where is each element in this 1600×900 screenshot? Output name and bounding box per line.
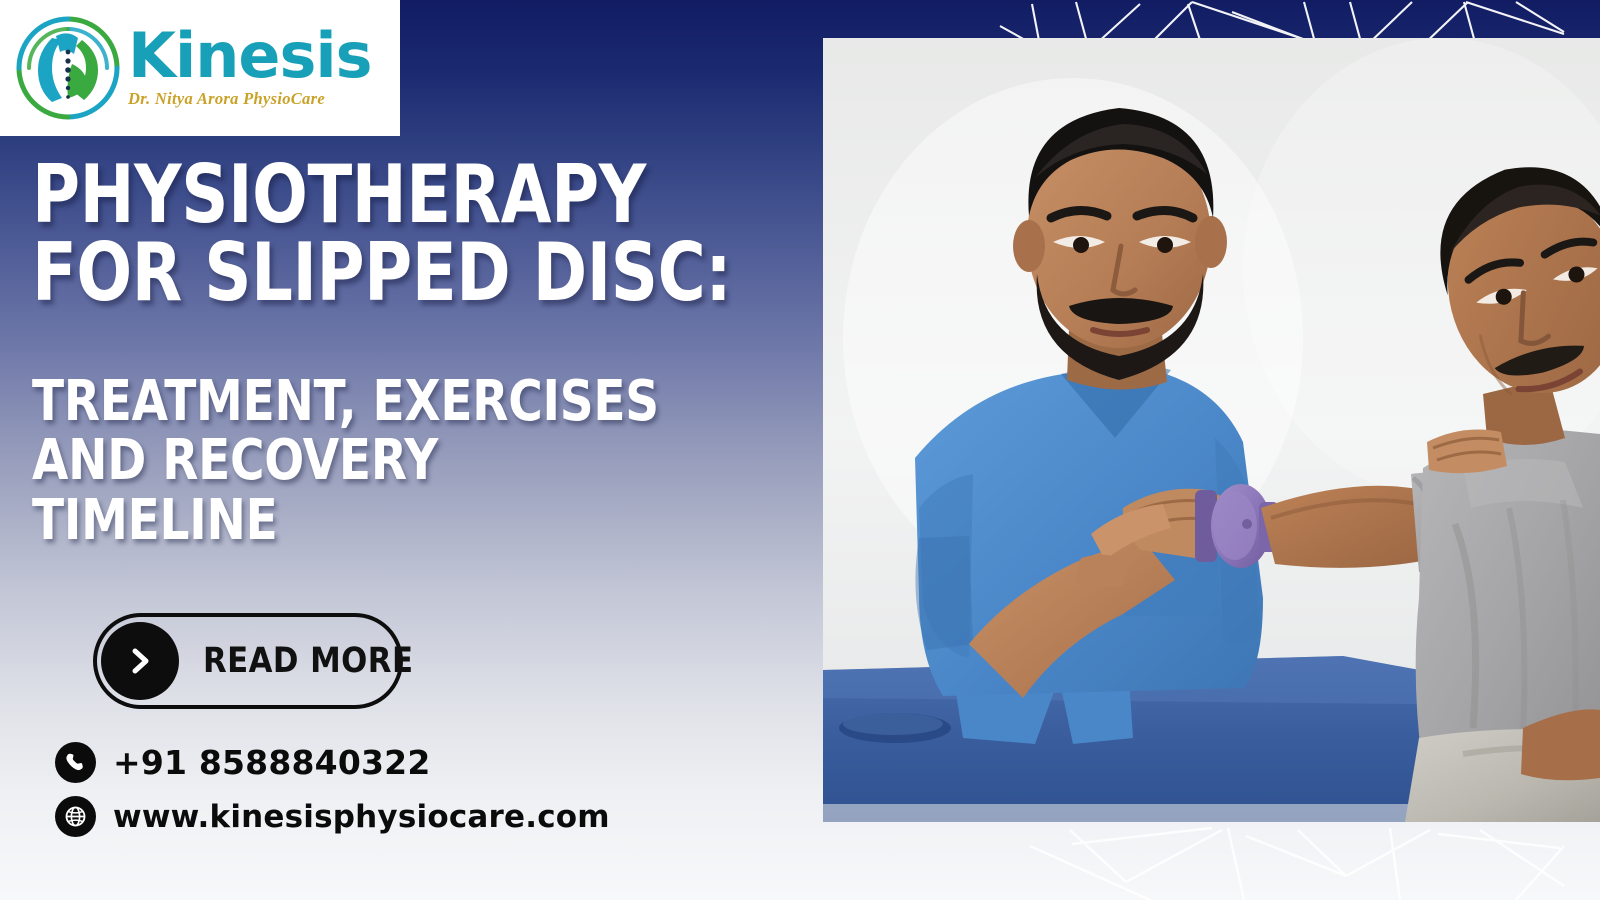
read-more-button[interactable]: READ MORE <box>93 613 403 709</box>
globe-icon <box>64 805 87 828</box>
phone-icon <box>64 751 87 774</box>
decorative-lines-bottom <box>960 820 1600 900</box>
brand-tagline: Dr. Nitya Arora PhysioCare <box>128 89 372 109</box>
spine-circle-emblem-icon <box>12 12 124 124</box>
phone-icon-circle <box>55 742 96 783</box>
website-url: www.kinesisphysiocare.com <box>113 799 610 835</box>
contact-phone-row[interactable]: +91 8588840322 <box>55 742 610 783</box>
read-more-icon-circle <box>101 622 179 700</box>
subheadline-line-3: TIMELINE <box>32 491 704 550</box>
contact-info: +91 8588840322 www.kinesisphysiocare.com <box>55 742 610 850</box>
hero-photo-illustration <box>823 38 1600 822</box>
chevron-right-icon <box>123 644 157 678</box>
brand-name: Kinesis <box>128 27 372 86</box>
read-more-label: READ MORE <box>203 641 413 681</box>
hero-photo <box>823 38 1600 822</box>
subheadline-line-1: TREATMENT, EXERCISES <box>32 372 704 431</box>
banner-root: Kinesis Dr. Nitya Arora PhysioCare PHYSI… <box>0 0 1600 900</box>
contact-website-row[interactable]: www.kinesisphysiocare.com <box>55 796 610 837</box>
brand-logo[interactable]: Kinesis Dr. Nitya Arora PhysioCare <box>0 0 400 136</box>
subheadline-line-2: AND RECOVERY <box>32 431 704 490</box>
globe-icon-circle <box>55 796 96 837</box>
headline-line-1: PHYSIOTHERAPY <box>32 156 688 234</box>
page-subtitle: TREATMENT, EXERCISES AND RECOVERY TIMELI… <box>32 372 832 550</box>
headline-line-2: FOR SLIPPED DISC: <box>32 234 688 312</box>
page-title: PHYSIOTHERAPY FOR SLIPPED DISC: <box>32 156 832 311</box>
phone-number: +91 8588840322 <box>113 743 430 782</box>
